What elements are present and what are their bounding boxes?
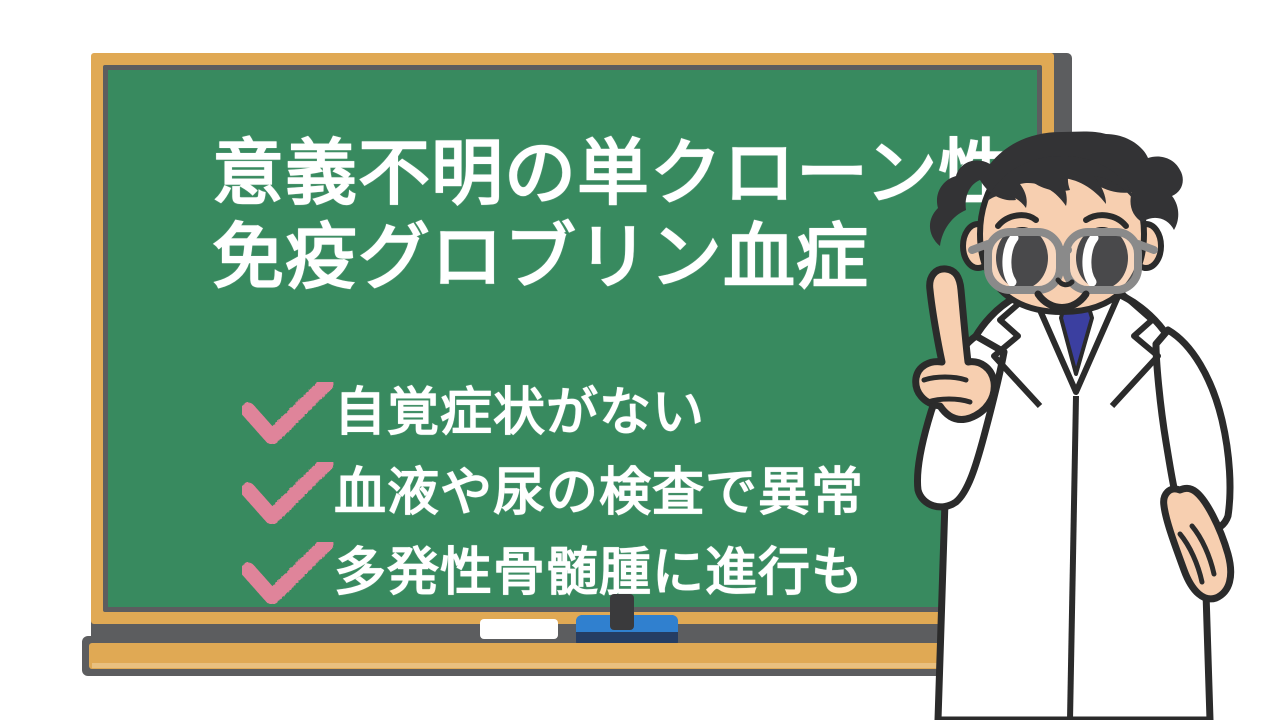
eraser-handle — [610, 594, 634, 630]
list-item-label: 血液や尿の検査で異常 — [334, 467, 864, 519]
check-mark-icon — [242, 462, 334, 524]
list-item-label: 自覚症状がない — [334, 387, 705, 439]
chalk-stick — [480, 619, 558, 639]
head — [930, 132, 1183, 313]
illustration-canvas: 意義不明の単クローン性 免疫グロブリン血症 — [0, 0, 1280, 720]
check-mark-icon — [242, 382, 334, 444]
doctor-character — [880, 130, 1280, 720]
list-item-label: 多発性骨髄腫に進行も — [334, 547, 864, 599]
check-mark-icon — [242, 542, 334, 604]
